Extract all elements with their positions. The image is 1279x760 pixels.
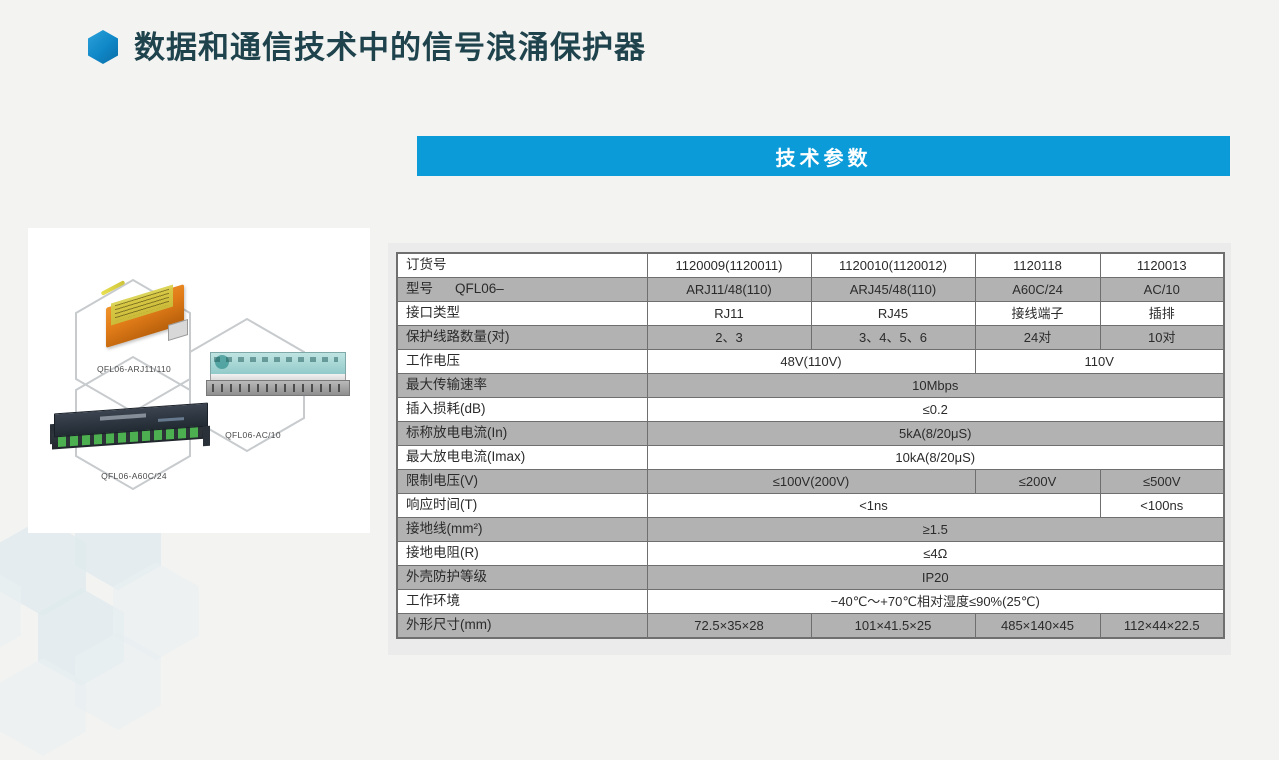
table-row-label: 工作电压: [397, 350, 647, 374]
table-row: 订货号1120009(1120011)1120010(1120012)11201…: [397, 253, 1224, 278]
background-honeycomb-pattern: [0, 500, 390, 760]
table-row: 工作电压48V(110V)110V: [397, 350, 1224, 374]
table-cell: 10Mbps: [647, 374, 1224, 398]
table-cell: ≤0.2: [647, 398, 1224, 422]
table-cell: IP20: [647, 566, 1224, 590]
table-cell: RJ11: [647, 302, 811, 326]
table-row-label: 接地电阻(R): [397, 542, 647, 566]
table-cell: 插排: [1100, 302, 1224, 326]
table-cell: 10对: [1100, 326, 1224, 350]
table-row: 接口类型RJ11RJ45接线端子插排: [397, 302, 1224, 326]
table-cell: 485×140×45: [975, 614, 1100, 639]
table-row-label: 标称放电电流(In): [397, 422, 647, 446]
table-row: 响应时间(T)<1ns<100ns: [397, 494, 1224, 518]
table-row-label: 响应时间(T): [397, 494, 647, 518]
table-row-label: 接地线(mm²): [397, 518, 647, 542]
table-row: 最大传输速率10Mbps: [397, 374, 1224, 398]
table-cell: ≤500V: [1100, 470, 1224, 494]
table-row: 接地电阻(R)≤4Ω: [397, 542, 1224, 566]
table-cell: <1ns: [647, 494, 1100, 518]
table-cell: 1120009(1120011): [647, 253, 811, 278]
table-row-label: 最大传输速率: [397, 374, 647, 398]
hexagon-icon: [88, 30, 118, 64]
table-cell: ARJ11/48(110): [647, 278, 811, 302]
hexagon-decor: [75, 632, 161, 730]
table-row: 工作环境−40℃～+70℃相对湿度≤90%(25℃): [397, 590, 1224, 614]
section-banner: 技术参数: [417, 136, 1230, 176]
table-row: 限制电压(V)≤100V(200V)≤200V≤500V: [397, 470, 1224, 494]
table-cell: 1120013: [1100, 253, 1224, 278]
section-banner-label: 技术参数: [776, 142, 872, 171]
table-row: 接地线(mm²)≥1.5: [397, 518, 1224, 542]
table-cell: RJ45: [811, 302, 975, 326]
table-row-label: 插入损耗(dB): [397, 398, 647, 422]
table-row-label: 型号QFL06–: [397, 278, 647, 302]
table-row: 插入损耗(dB)≤0.2: [397, 398, 1224, 422]
table-cell: 48V(110V): [647, 350, 975, 374]
table-row-label: 接口类型: [397, 302, 647, 326]
table-cell: ≤100V(200V): [647, 470, 975, 494]
hexagon-decor: [0, 562, 21, 660]
product-label-arj11: QFL06-ARJ11/110: [76, 364, 192, 374]
table-cell: 110V: [975, 350, 1224, 374]
table-row-label: 外壳防护等级: [397, 566, 647, 590]
page-title: 数据和通信技术中的信号浪涌保护器: [134, 32, 646, 63]
table-cell: 24对: [975, 326, 1100, 350]
table-cell: 10kA(8/20μS): [647, 446, 1224, 470]
table-cell: ≥1.5: [647, 518, 1224, 542]
table-cell: ≤4Ω: [647, 542, 1224, 566]
table-row: 保护线路数量(对)2、33、4、5、624对10对: [397, 326, 1224, 350]
table-row-label: 保护线路数量(对): [397, 326, 647, 350]
table-cell: ARJ45/48(110): [811, 278, 975, 302]
table-cell: 接线端子: [975, 302, 1100, 326]
spec-table-frame: 订货号1120009(1120011)1120010(1120012)11201…: [388, 243, 1231, 655]
table-row: 型号QFL06–ARJ11/48(110)ARJ45/48(110)A60C/2…: [397, 278, 1224, 302]
product-photo-ac10: [204, 348, 354, 398]
table-row-label: 外形尺寸(mm): [397, 614, 647, 639]
product-label-ac10: QFL06-AC/10: [198, 430, 308, 440]
hexagon-decor: [38, 588, 124, 686]
table-cell: 1120010(1120012): [811, 253, 975, 278]
table-cell: 2、3: [647, 326, 811, 350]
table-cell: 101×41.5×25: [811, 614, 975, 639]
table-cell: 5kA(8/20μS): [647, 422, 1224, 446]
table-row: 标称放电电流(In)5kA(8/20μS): [397, 422, 1224, 446]
table-cell: 112×44×22.5: [1100, 614, 1224, 639]
table-cell: A60C/24: [975, 278, 1100, 302]
table-row: 最大放电电流(Imax)10kA(8/20μS): [397, 446, 1224, 470]
table-cell: AC/10: [1100, 278, 1224, 302]
product-label-a60c24: QFL06-A60C/24: [76, 471, 192, 481]
table-cell: <100ns: [1100, 494, 1224, 518]
product-photo-a60c24: [50, 406, 210, 450]
table-cell: 1120118: [975, 253, 1100, 278]
hexagon-decor: [113, 562, 199, 660]
table-cell: 72.5×35×28: [647, 614, 811, 639]
table-row: 外壳防护等级IP20: [397, 566, 1224, 590]
table-row-label: 限制电压(V): [397, 470, 647, 494]
page-title-bar: 数据和通信技术中的信号浪涌保护器: [88, 30, 646, 64]
table-cell: −40℃～+70℃相对湿度≤90%(25℃): [647, 590, 1224, 614]
hexagon-decor: [0, 658, 86, 756]
product-photo-arj11: [98, 276, 194, 350]
table-row-label: 最大放电电流(Imax): [397, 446, 647, 470]
table-row-label: 工作环境: [397, 590, 647, 614]
table-cell: 3、4、5、6: [811, 326, 975, 350]
product-image-panel: QFL06-ARJ11/110 QFL06-AC/10 QFL06-A60C/2…: [28, 228, 370, 533]
table-cell: ≤200V: [975, 470, 1100, 494]
table-row-label: 订货号: [397, 253, 647, 278]
table-row: 外形尺寸(mm)72.5×35×28101×41.5×25485×140×451…: [397, 614, 1224, 639]
spec-table: 订货号1120009(1120011)1120010(1120012)11201…: [396, 252, 1225, 639]
